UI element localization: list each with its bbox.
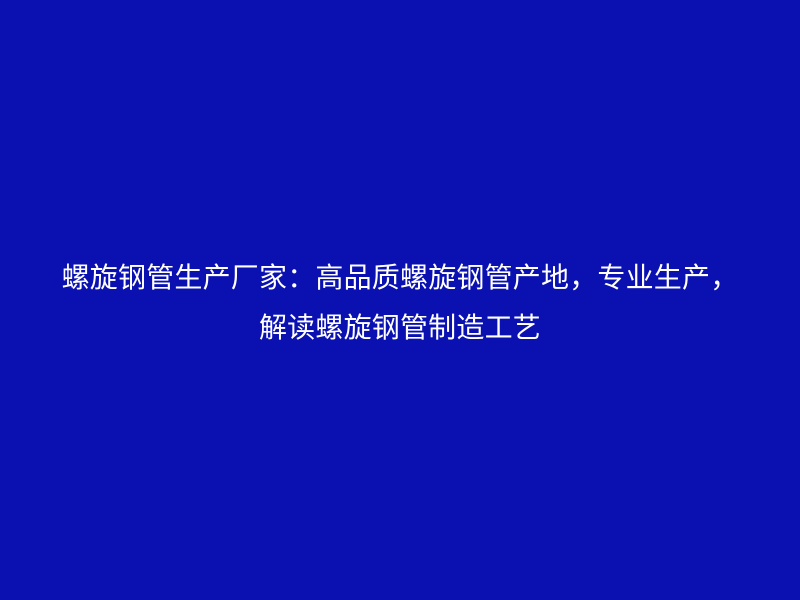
banner-card: 螺旋钢管生产厂家：高品质螺旋钢管产地，专业生产，解读螺旋钢管制造工艺 — [0, 0, 800, 600]
page-title: 螺旋钢管生产厂家：高品质螺旋钢管产地，专业生产，解读螺旋钢管制造工艺 — [50, 253, 750, 353]
title-block: 螺旋钢管生产厂家：高品质螺旋钢管产地，专业生产，解读螺旋钢管制造工艺 — [50, 253, 750, 353]
